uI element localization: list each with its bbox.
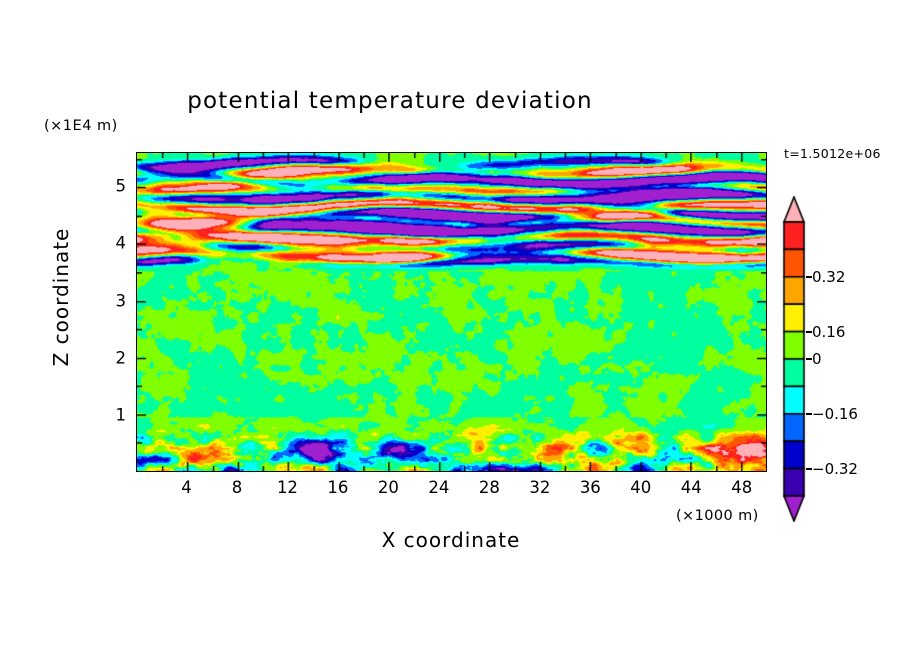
colorbar-tick-label: 0.16 <box>812 323 845 341</box>
colorbar-tick-label: 0 <box>812 350 822 368</box>
x-tick-label: 48 <box>731 478 752 497</box>
colorbar-tick-label: 0.32 <box>812 268 845 286</box>
x-tick-label: 44 <box>681 478 702 497</box>
contour-field <box>137 153 766 471</box>
y-tick-label: 2 <box>116 348 127 367</box>
y-tick-label: 3 <box>116 291 127 310</box>
time-annotation: t=1.5012e+06 <box>784 146 881 161</box>
colorbar-tick-mark <box>806 413 812 415</box>
y-tick-label: 4 <box>116 234 127 253</box>
x-tick-label: 32 <box>529 478 550 497</box>
colorbar-swatches <box>782 196 806 522</box>
colorbar-tick-mark <box>806 276 812 278</box>
x-tick-label: 16 <box>327 478 348 497</box>
x-tick-label: 36 <box>580 478 601 497</box>
plot-area <box>136 152 767 472</box>
x-tick-label: 20 <box>378 478 399 497</box>
chart-title: potential temperature deviation <box>0 88 780 114</box>
y-tick-label: 5 <box>116 177 127 196</box>
colorbar-tick-label: −0.16 <box>812 405 858 423</box>
x-tick-label: 24 <box>428 478 449 497</box>
x-tick-label: 8 <box>232 478 243 497</box>
y-axis-tick-labels: 54321 <box>96 152 126 472</box>
colorbar-tick-mark <box>806 358 812 360</box>
x-tick-label: 40 <box>630 478 651 497</box>
x-axis-title: X coordinate <box>236 528 666 552</box>
x-tick-label: 28 <box>479 478 500 497</box>
y-axis-unit-label: (×1E4 m) <box>44 118 118 134</box>
x-axis-unit-label: (×1000 m) <box>676 508 759 524</box>
y-axis-title: Z coordinate <box>49 202 73 392</box>
colorbar-tick-mark <box>806 468 812 470</box>
x-tick-label: 4 <box>181 478 192 497</box>
colorbar-tick-label: −0.32 <box>812 460 858 478</box>
colorbar: 0.320.160−0.16−0.32 <box>782 196 806 522</box>
colorbar-tick-mark <box>806 331 812 333</box>
x-tick-label: 12 <box>277 478 298 497</box>
y-tick-label: 1 <box>116 405 127 424</box>
